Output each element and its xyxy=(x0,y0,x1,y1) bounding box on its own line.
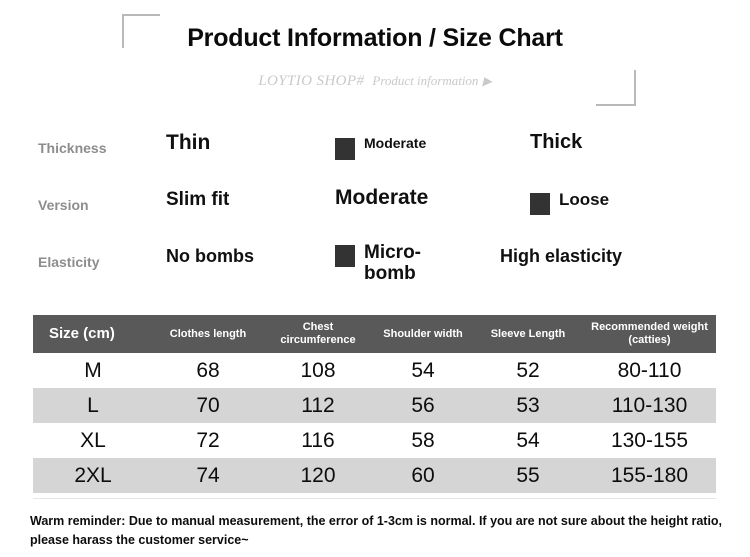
attribute-option-label: Micro-bomb xyxy=(364,243,442,284)
table-row: XL 72 116 58 54 130-155 xyxy=(33,423,716,458)
cell-size: 2XL xyxy=(33,458,153,493)
cell-chest-circumference: 112 xyxy=(263,388,373,423)
cell-sleeve-length: 53 xyxy=(473,388,583,423)
play-icon: ▶ xyxy=(482,74,491,88)
attribute-option-thick[interactable]: Thick xyxy=(530,132,582,154)
attribute-option-label: High elasticity xyxy=(500,247,622,266)
attribute-label-version: Version xyxy=(38,197,89,213)
attribute-row-version: Version Slim fit Moderate Loose xyxy=(0,185,750,242)
cell-clothes-length: 68 xyxy=(153,353,263,388)
cell-size: L xyxy=(33,388,153,423)
attribute-option-slim-fit[interactable]: Slim fit xyxy=(166,190,229,211)
attribute-option-label: Loose xyxy=(559,191,609,209)
cell-clothes-length: 70 xyxy=(153,388,263,423)
attribute-option-label: Thin xyxy=(166,132,210,155)
page-title: Product Information / Size Chart xyxy=(0,24,750,53)
cell-shoulder-width: 56 xyxy=(373,388,473,423)
cell-chest-circumference: 120 xyxy=(263,458,373,493)
attribute-option-micro-bomb[interactable]: Micro-bomb xyxy=(335,243,442,284)
selected-marker-icon xyxy=(335,138,355,160)
column-header-sleeve-length: Sleeve Length xyxy=(473,315,583,353)
attribute-row-thickness: Thickness Thin Moderate Thick xyxy=(0,128,750,185)
cell-chest-circumference: 116 xyxy=(263,423,373,458)
attribute-label-thickness: Thickness xyxy=(38,140,106,156)
table-row: L 70 112 56 53 110-130 xyxy=(33,388,716,423)
cell-shoulder-width: 54 xyxy=(373,353,473,388)
attribute-option-moderate[interactable]: Moderate xyxy=(335,136,426,160)
cell-size: XL xyxy=(33,423,153,458)
cell-recommended-weight: 80-110 xyxy=(583,353,716,388)
column-header-shoulder-width: Shoulder width xyxy=(373,315,473,353)
column-header-chest-circumference: Chest circumference xyxy=(263,315,373,353)
cell-shoulder-width: 60 xyxy=(373,458,473,493)
column-header-size: Size (cm) xyxy=(33,315,153,353)
attribute-option-moderate[interactable]: Moderate xyxy=(335,187,428,210)
attribute-option-thin[interactable]: Thin xyxy=(166,132,210,155)
cell-recommended-weight: 130-155 xyxy=(583,423,716,458)
subtitle-text: Product information xyxy=(372,73,478,88)
attribute-label-elasticity: Elasticity xyxy=(38,254,99,270)
attribute-option-high-elasticity[interactable]: High elasticity xyxy=(500,247,622,266)
cell-chest-circumference: 108 xyxy=(263,353,373,388)
table-row: 2XL 74 120 60 55 155-180 xyxy=(33,458,716,493)
selected-marker-icon xyxy=(335,245,355,267)
cell-shoulder-width: 58 xyxy=(373,423,473,458)
attribute-option-label: Slim fit xyxy=(166,190,229,211)
brand-name: LOYTIO SHOP# xyxy=(258,73,364,89)
attribute-list: Thickness Thin Moderate Thick Version Sl… xyxy=(0,128,750,299)
attribute-option-loose[interactable]: Loose xyxy=(530,191,609,215)
attribute-option-label: Thick xyxy=(530,132,582,154)
table-row: M 68 108 54 52 80-110 xyxy=(33,353,716,388)
cell-clothes-length: 74 xyxy=(153,458,263,493)
column-header-clothes-length: Clothes length xyxy=(153,315,263,353)
attribute-option-label: Moderate xyxy=(364,136,426,151)
brand-subtitle: LOYTIO SHOP#Product information▶ xyxy=(0,72,750,90)
cell-sleeve-length: 55 xyxy=(473,458,583,493)
cell-clothes-length: 72 xyxy=(153,423,263,458)
column-header-recommended-weight: Recommended weight (catties) xyxy=(583,315,716,353)
cell-recommended-weight: 155-180 xyxy=(583,458,716,493)
attribute-option-no-bombs[interactable]: No bombs xyxy=(166,247,254,266)
size-chart-table: Size (cm) Clothes length Chest circumfer… xyxy=(33,315,716,493)
cell-sleeve-length: 54 xyxy=(473,423,583,458)
attribute-option-label: Moderate xyxy=(335,187,428,210)
table-header-row: Size (cm) Clothes length Chest circumfer… xyxy=(33,315,716,353)
selected-marker-icon xyxy=(530,193,550,215)
cell-recommended-weight: 110-130 xyxy=(583,388,716,423)
cell-sleeve-length: 52 xyxy=(473,353,583,388)
attribute-row-elasticity: Elasticity No bombs Micro-bomb High elas… xyxy=(0,242,750,299)
footer-divider xyxy=(33,498,716,499)
cell-size: M xyxy=(33,353,153,388)
attribute-option-label: No bombs xyxy=(166,247,254,266)
warm-reminder-note: Warm reminder: Due to manual measurement… xyxy=(30,512,724,551)
